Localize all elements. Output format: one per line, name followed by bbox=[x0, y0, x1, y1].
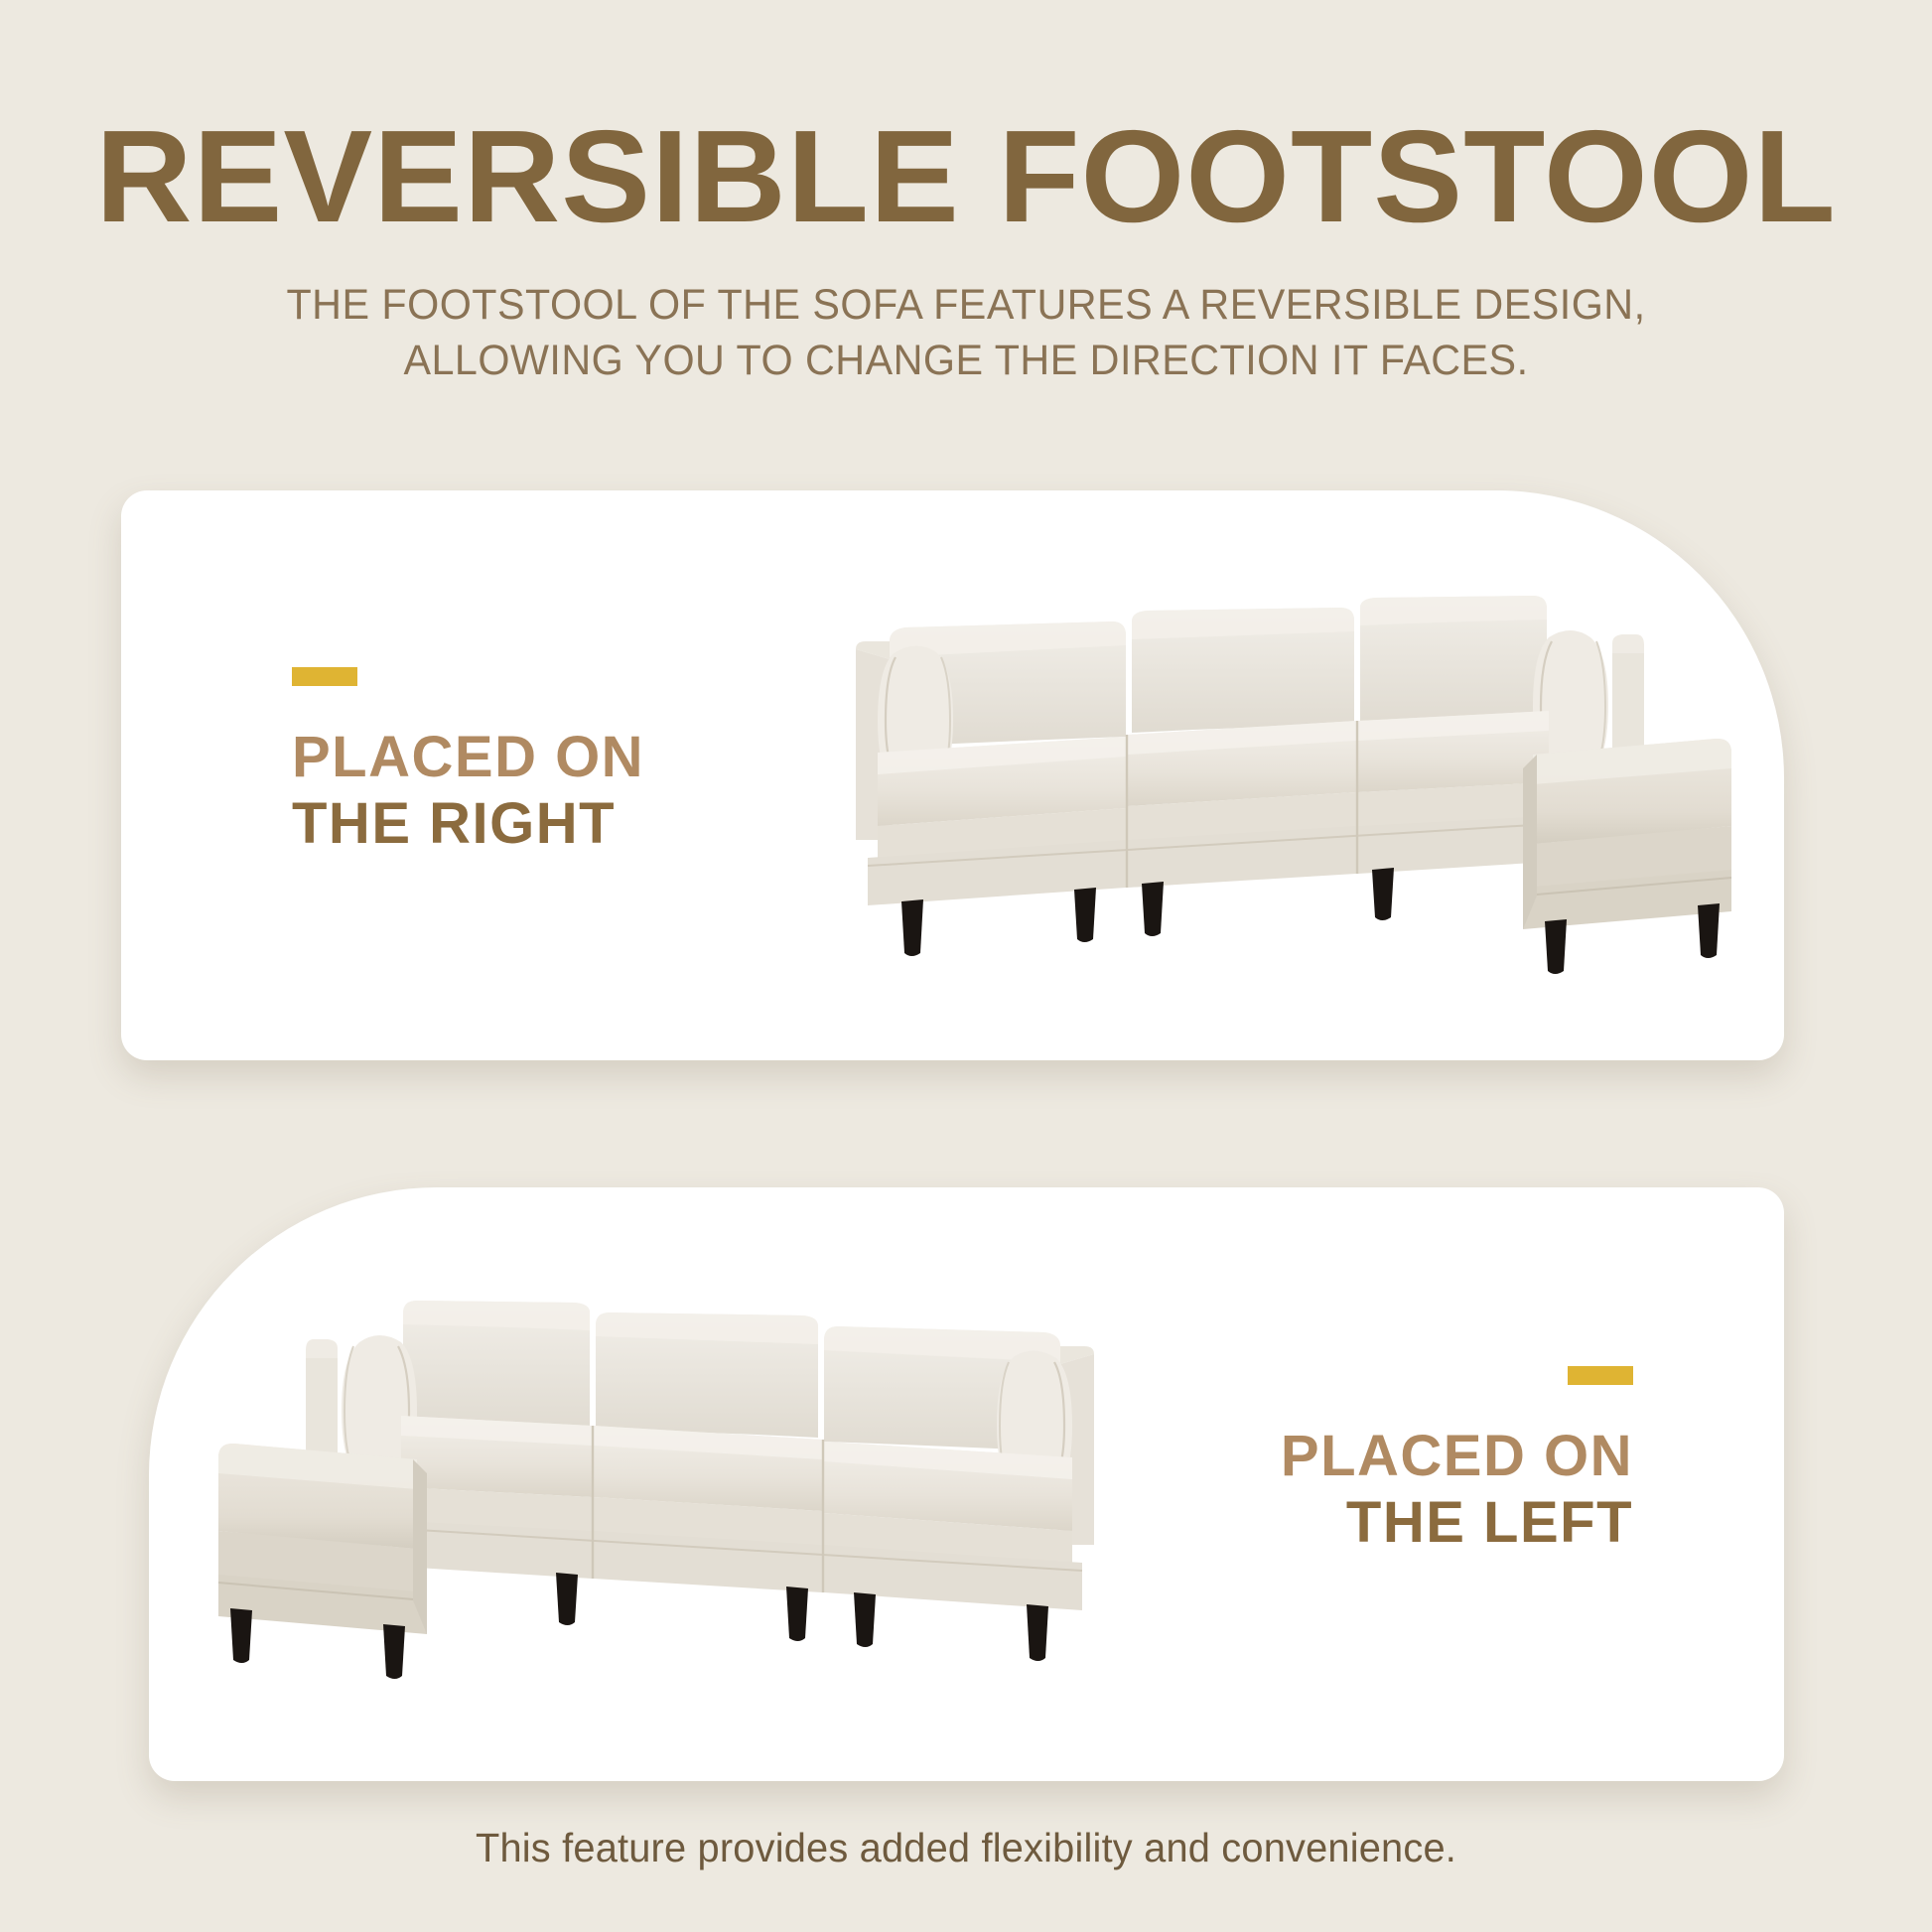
card-left-label-line-1: PLACED ON bbox=[1281, 1423, 1633, 1489]
card-placed-on-left[interactable]: PLACED ON THE LEFT bbox=[149, 1187, 1784, 1781]
page-title: REVERSIBLE FOOTSTOOL bbox=[0, 111, 1932, 242]
sofa-image-footstool-left bbox=[189, 1247, 1112, 1743]
subtitle-line-2: ALLOWING YOU TO CHANGE THE DIRECTION IT … bbox=[39, 334, 1893, 389]
gold-accent-bar bbox=[292, 667, 357, 686]
card-left-label-line-2: THE LEFT bbox=[1281, 1489, 1633, 1556]
card-right-label-line-1: PLACED ON bbox=[292, 724, 644, 790]
sofa-image-footstool-right bbox=[838, 542, 1761, 1038]
label-block-right: PLACED ON THE RIGHT bbox=[292, 667, 644, 858]
header: REVERSIBLE FOOTSTOOL THE FOOTSTOOL OF TH… bbox=[0, 0, 1932, 389]
subtitle-line-1: THE FOOTSTOOL OF THE SOFA FEATURES A REV… bbox=[39, 278, 1893, 334]
footer-note: This feature provides added flexibility … bbox=[29, 1825, 1903, 1871]
label-block-left: PLACED ON THE LEFT bbox=[1281, 1366, 1633, 1557]
gold-accent-bar bbox=[1568, 1366, 1633, 1385]
page-subtitle: THE FOOTSTOOL OF THE SOFA FEATURES A REV… bbox=[39, 278, 1893, 389]
card-right-label-line-2: THE RIGHT bbox=[292, 790, 644, 857]
card-placed-on-right[interactable]: PLACED ON THE RIGHT bbox=[121, 490, 1784, 1060]
